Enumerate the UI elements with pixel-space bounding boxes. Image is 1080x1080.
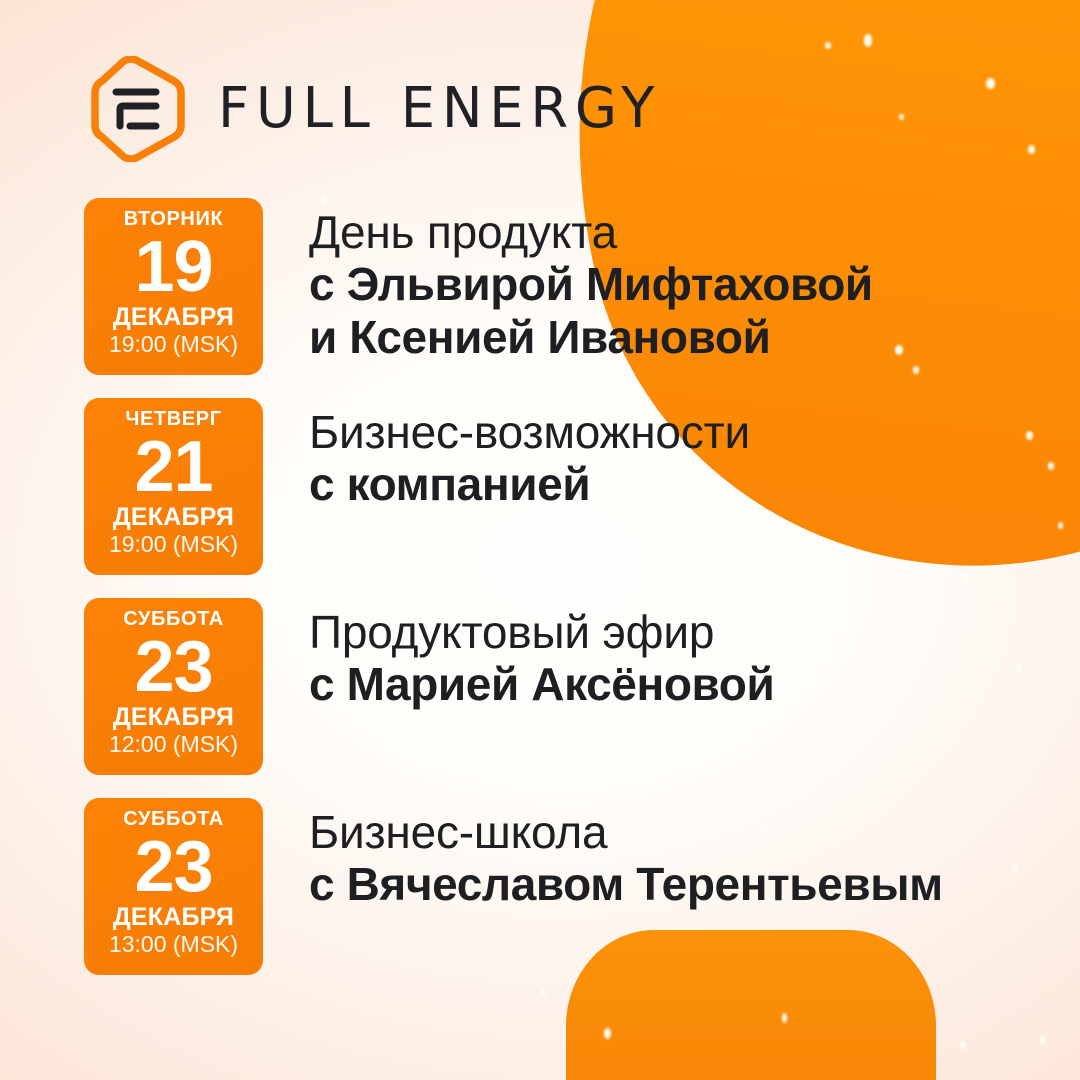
event-title: Продуктовый эфир xyxy=(309,606,774,658)
date-day: 23 xyxy=(134,633,212,702)
date-time: 12:00 (MSK) xyxy=(109,732,238,757)
event-title: День продукта xyxy=(309,206,873,258)
event-details: Бизнес-школа с Вячеславом Терентьевым xyxy=(263,798,943,911)
event-details: Продуктовый эфир с Марией Аксёновой xyxy=(263,598,774,711)
event-subtitle: с Вячеславом Терентьевым xyxy=(309,858,943,910)
date-card[interactable]: ЧЕТВЕРГ 21 ДЕКАБРЯ 19:00 (MSK) xyxy=(84,398,263,575)
date-month: ДЕКАБРЯ xyxy=(113,904,234,930)
event-title: Бизнес-возможности xyxy=(309,406,750,458)
date-time: 19:00 (MSK) xyxy=(109,532,238,557)
event-details: Бизнес-возможности с компанией xyxy=(263,398,750,511)
schedule-row[interactable]: СУББОТА 23 ДЕКАБРЯ 13:00 (MSK) Бизнес-шк… xyxy=(84,798,1050,978)
event-subtitle: с Марией Аксёновой xyxy=(309,658,774,710)
date-time: 13:00 (MSK) xyxy=(109,932,238,957)
date-day: 23 xyxy=(134,833,212,902)
poster-canvas: FULL ENERGY ВТОРНИК 19 ДЕКАБРЯ 19:00 (MS… xyxy=(0,0,1080,1080)
event-subtitle: с Эльвирой Мифтаховой и Ксенией Ивановой xyxy=(309,258,873,363)
date-card[interactable]: СУББОТА 23 ДЕКАБРЯ 12:00 (MSK) xyxy=(84,598,263,775)
event-subtitle-line: с Марией Аксёновой xyxy=(309,658,774,710)
date-month: ДЕКАБРЯ xyxy=(113,704,234,730)
schedule-row[interactable]: СУББОТА 23 ДЕКАБРЯ 12:00 (MSK) Продуктов… xyxy=(84,598,1050,798)
event-subtitle-line: с компанией xyxy=(309,458,750,510)
brand-name: FULL ENERGY xyxy=(218,81,661,137)
event-title: Бизнес-школа xyxy=(309,806,943,858)
schedule-row[interactable]: ВТОРНИК 19 ДЕКАБРЯ 19:00 (MSK) День прод… xyxy=(84,198,1050,398)
date-card[interactable]: СУББОТА 23 ДЕКАБРЯ 13:00 (MSK) xyxy=(84,798,263,975)
schedule-list: ВТОРНИК 19 ДЕКАБРЯ 19:00 (MSK) День прод… xyxy=(84,198,1050,978)
date-day: 19 xyxy=(134,233,212,302)
date-day: 21 xyxy=(134,433,212,502)
event-subtitle: с компанией xyxy=(309,458,750,510)
date-card[interactable]: ВТОРНИК 19 ДЕКАБРЯ 19:00 (MSK) xyxy=(84,198,263,375)
date-month: ДЕКАБРЯ xyxy=(113,504,234,530)
date-month: ДЕКАБРЯ xyxy=(113,304,234,330)
schedule-row[interactable]: ЧЕТВЕРГ 21 ДЕКАБРЯ 19:00 (MSK) Бизнес-во… xyxy=(84,398,1050,598)
event-subtitle-line: и Ксенией Ивановой xyxy=(309,311,873,363)
event-subtitle-line: с Вячеславом Терентьевым xyxy=(309,858,943,910)
event-subtitle-line: с Эльвирой Мифтаховой xyxy=(309,258,873,310)
date-time: 19:00 (MSK) xyxy=(109,332,238,357)
hexagon-e-logo-icon xyxy=(86,56,190,162)
brand-logo: FULL ENERGY xyxy=(86,56,675,162)
event-details: День продукта с Эльвирой Мифтаховой и Кс… xyxy=(263,198,873,363)
